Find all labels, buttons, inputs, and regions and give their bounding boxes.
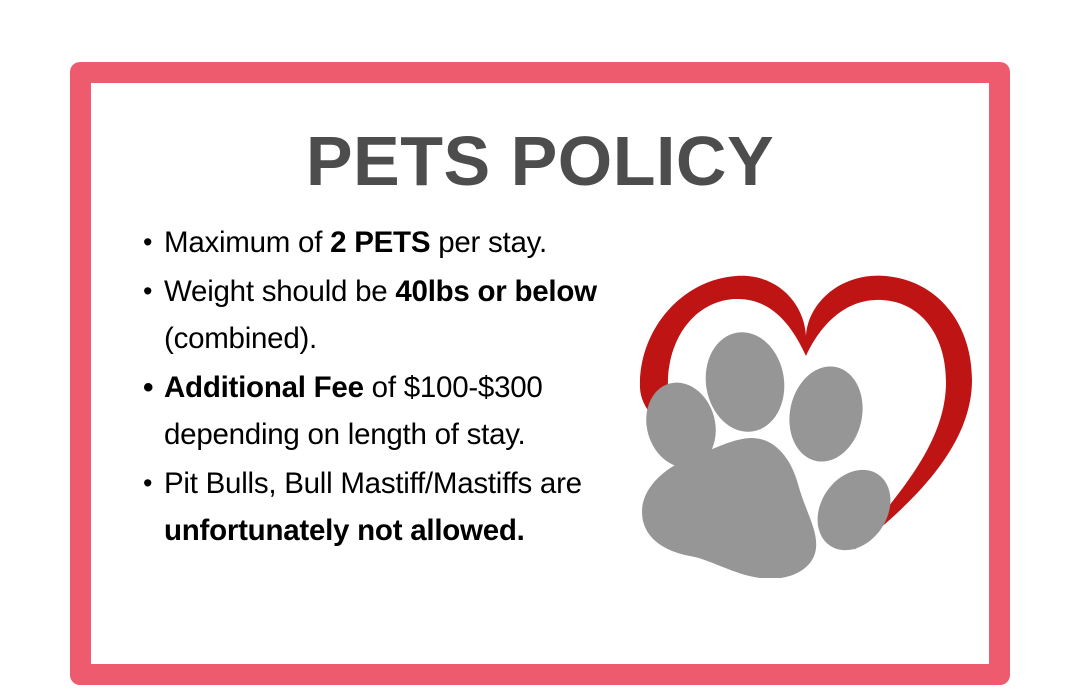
- bullet-icon: •: [143, 219, 152, 266]
- policy-text-run: (combined).: [164, 322, 317, 355]
- policy-item-text: Pit Bulls, Bull Mastiff/Mastiffs are unf…: [164, 467, 582, 547]
- heart-paw-illustration: [628, 258, 978, 578]
- policy-text-run: Maximum of: [164, 226, 330, 259]
- policy-item-weight-limit: •Weight should be 40lbs or below (combin…: [138, 268, 648, 362]
- bullet-icon: •: [143, 268, 152, 315]
- bullet-icon: •: [143, 364, 153, 411]
- policy-text-run: Weight should be: [164, 275, 395, 308]
- policy-item-text: Additional Fee of $100-$300 depending on…: [164, 371, 543, 451]
- paw-toe-pad-3-icon: [781, 360, 871, 469]
- policy-emphasis: Additional Fee: [164, 371, 364, 404]
- policy-text-run: per stay.: [430, 226, 547, 259]
- policy-emphasis: 2 PETS: [330, 226, 430, 259]
- policy-list: •Maximum of 2 PETS per stay.•Weight shou…: [138, 219, 648, 556]
- policy-item-breed-restrictions: •Pit Bulls, Bull Mastiff/Mastiffs are un…: [138, 460, 648, 554]
- policy-item-additional-fee: •Additional Fee of $100-$300 depending o…: [138, 364, 648, 458]
- page-title: PETS POLICY: [0, 122, 1080, 200]
- policy-item-text: Weight should be 40lbs or below (combine…: [164, 275, 597, 355]
- pets-policy-poster: PETS POLICY •Maximum of 2 PETS per stay.…: [0, 0, 1080, 700]
- policy-emphasis: 40lbs or below: [395, 275, 596, 308]
- policy-item-text: Maximum of 2 PETS per stay.: [164, 226, 547, 259]
- policy-text-run: Pit Bulls, Bull Mastiff/Mastiffs are: [164, 467, 582, 500]
- policy-item-max-pets: •Maximum of 2 PETS per stay.: [138, 219, 648, 266]
- policy-emphasis: unfortunately not allowed.: [164, 514, 525, 547]
- bullet-icon: •: [143, 460, 152, 507]
